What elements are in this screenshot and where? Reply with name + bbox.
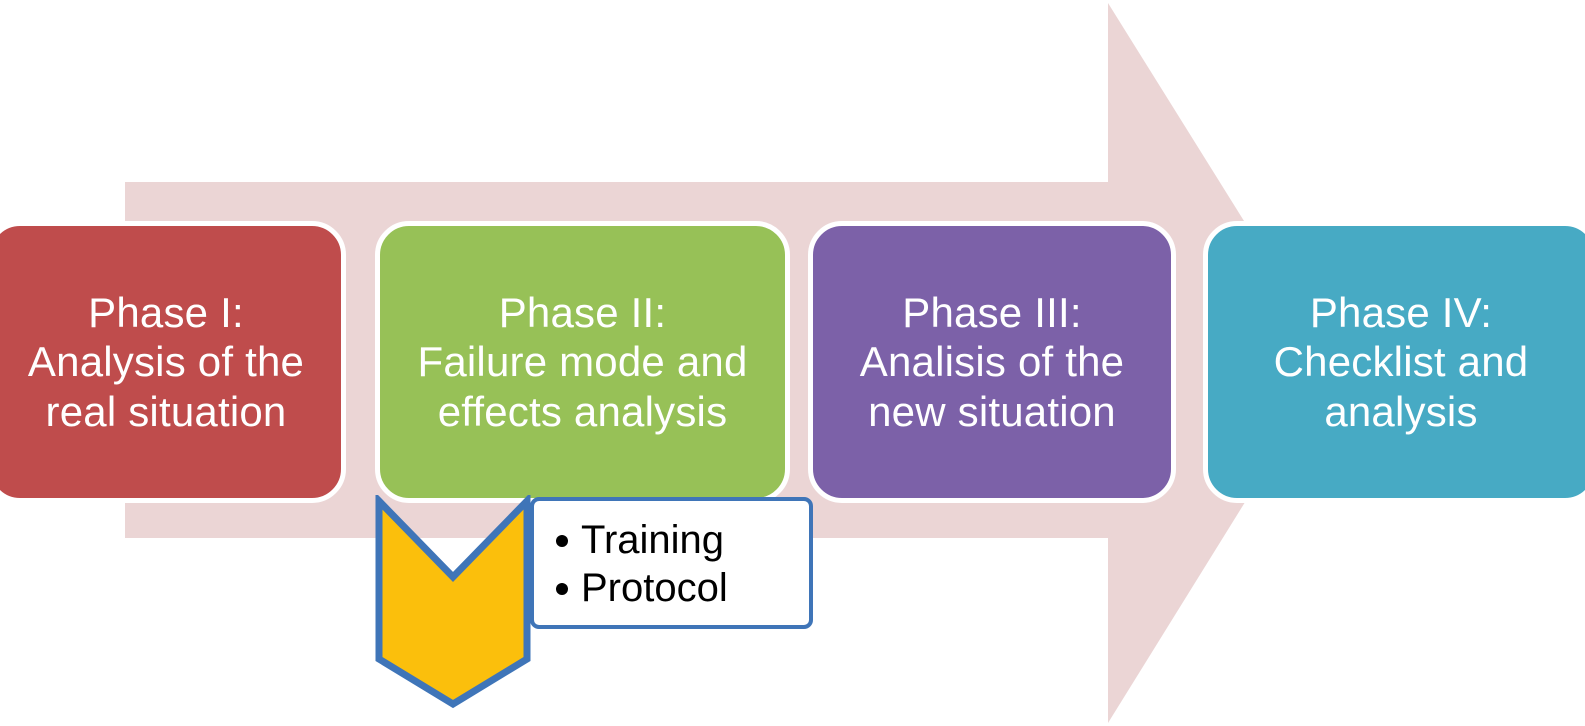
bullet-dot-icon <box>556 583 568 595</box>
callout-box: Training Protocol <box>530 497 813 629</box>
bullet-dot-icon <box>556 535 568 547</box>
down-chevron-icon <box>373 495 533 710</box>
callout-item-label: Training <box>581 519 724 561</box>
phase-box-1-label: Phase I: Analysis of the real situation <box>28 288 304 437</box>
phase-box-3[interactable]: Phase III: Analisis of the new situation <box>808 221 1176 503</box>
callout-item-label: Protocol <box>581 567 728 609</box>
down-chevron-shape <box>379 501 527 704</box>
phase-box-4[interactable]: Phase IV: Checklist and analysis <box>1203 221 1585 503</box>
list-item: Training <box>556 519 799 561</box>
diagram-canvas: Phase I: Analysis of the real situation … <box>0 0 1585 726</box>
list-item: Protocol <box>556 567 799 609</box>
phase-box-2[interactable]: Phase II: Failure mode and effects analy… <box>375 221 790 503</box>
phase-box-4-label: Phase IV: Checklist and analysis <box>1274 288 1529 437</box>
phase-box-2-label: Phase II: Failure mode and effects analy… <box>417 288 747 437</box>
phase-box-1[interactable]: Phase I: Analysis of the real situation <box>0 221 346 503</box>
phase-box-3-label: Phase III: Analisis of the new situation <box>860 288 1124 437</box>
